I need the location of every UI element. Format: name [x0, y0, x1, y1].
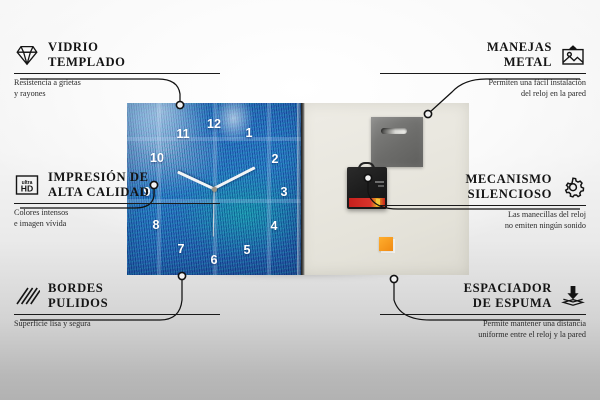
clock-numeral-1: 1 [246, 127, 253, 140]
polished-edges-icon [14, 284, 40, 308]
metal-hanger-plate [371, 117, 423, 167]
callout-rule [380, 205, 586, 206]
feature-callout-spacer: ESPACIADOR DE ESPUMA Permite mantener un… [380, 281, 586, 341]
picture-frame-hanging-icon [560, 43, 586, 67]
feature-title: MANEJAS METAL [487, 40, 552, 70]
feature-callout-handles: MANEJAS METAL Permiten una fácil instala… [380, 40, 586, 100]
hanger-slot [381, 128, 407, 134]
callout-rule [380, 314, 586, 315]
callout-rule [14, 73, 220, 74]
feature-desc: Resistencia a grietas y rayones [14, 78, 220, 100]
feature-desc: Superficie lisa y segura [14, 319, 220, 330]
gear-icon [560, 175, 586, 199]
feature-desc: Colores intensos e imagen vívida [14, 208, 220, 230]
clock-numeral-12: 12 [207, 118, 221, 131]
clock-numeral-7: 7 [178, 243, 185, 256]
diamond-icon [14, 43, 40, 67]
clock-numeral-5: 5 [244, 244, 251, 257]
clock-numeral-11: 11 [176, 128, 189, 141]
feature-desc: Las manecillas del reloj no emiten ningú… [380, 210, 586, 232]
feature-desc: Permiten una fácil instalación del reloj… [380, 78, 586, 100]
panel-dark-edge [301, 103, 305, 275]
feature-callout-print: ultra HD IMPRESIÓN DE ALTA CALIDAD Color… [14, 170, 220, 230]
feature-desc: Permite mantener una distancia uniforme … [380, 319, 586, 341]
callout-rule [14, 203, 220, 204]
feature-callout-edges: BORDES PULIDOS Superficie lisa y segura [14, 281, 220, 330]
feature-callout-glass: VIDRIO TEMPLADO Resistencia a grietas y … [14, 40, 220, 100]
callout-rule [14, 314, 220, 315]
mechanism-loop [358, 162, 375, 170]
ultra-hd-badge-icon: ultra HD [14, 173, 40, 197]
feature-title: MECANISMO SILENCIOSO [465, 172, 552, 202]
feature-title: ESPACIADOR DE ESPUMA [464, 281, 552, 311]
svg-text:HD: HD [21, 183, 33, 193]
clock-numeral-10: 10 [150, 152, 164, 165]
infographic-stage: 12 1 2 3 4 5 6 7 8 9 10 11 [0, 0, 600, 400]
clock-numeral-3: 3 [281, 186, 288, 199]
callout-rule [380, 73, 586, 74]
feature-title: VIDRIO TEMPLADO [48, 40, 126, 70]
clock-numeral-6: 6 [211, 254, 218, 267]
feature-title: BORDES PULIDOS [48, 281, 108, 311]
feature-callout-mechanism: MECANISMO SILENCIOSO Las manecillas del … [380, 172, 586, 232]
foam-spacer [379, 237, 393, 251]
feature-title: IMPRESIÓN DE ALTA CALIDAD [48, 170, 149, 200]
foam-spacer-arrow-icon [560, 284, 586, 308]
clock-numeral-4: 4 [271, 220, 278, 233]
clock-numeral-2: 2 [272, 153, 279, 166]
